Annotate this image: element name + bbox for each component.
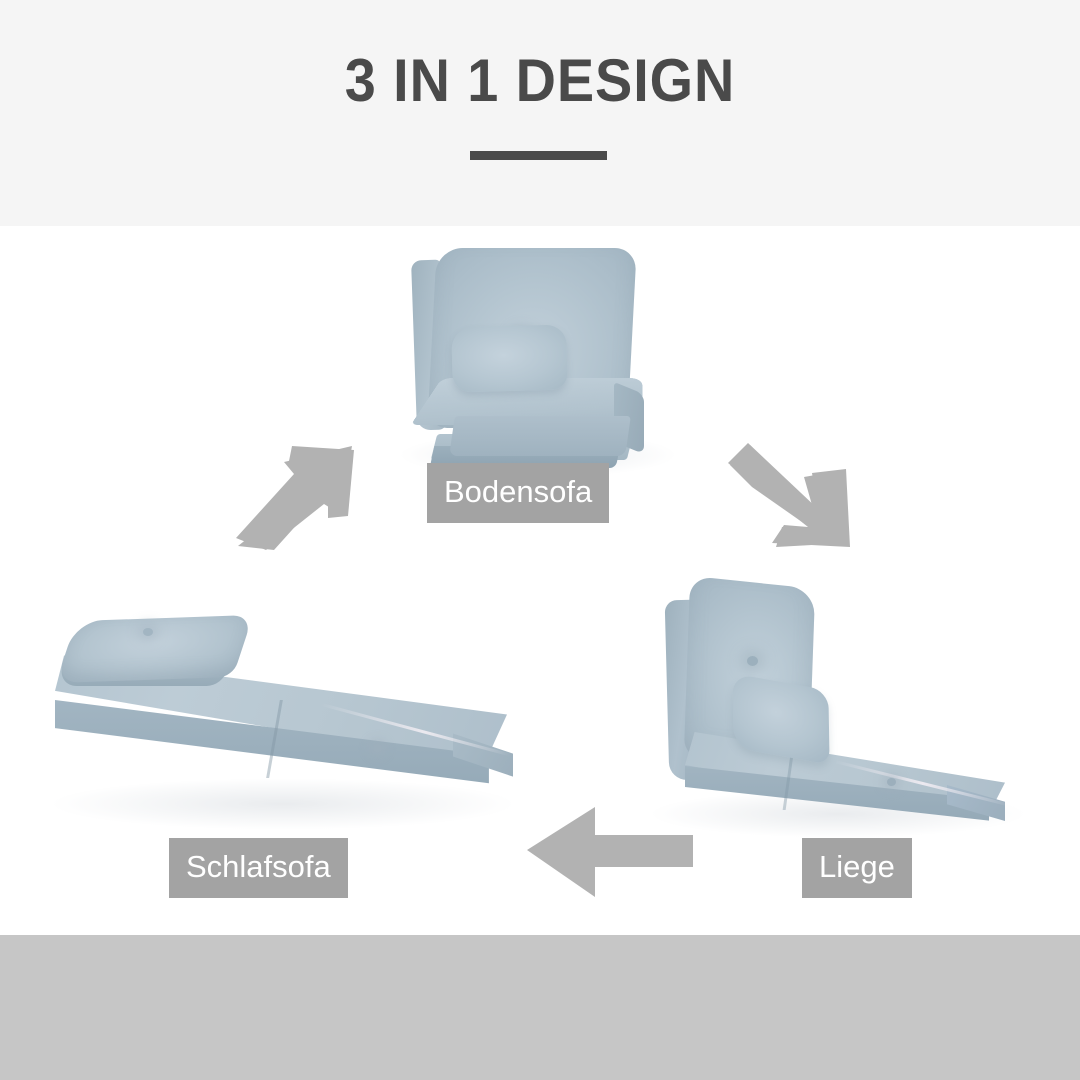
liege-seat-tuft — [887, 778, 896, 786]
product-image-liege — [655, 570, 1005, 830]
header-band: 3 IN 1 DESIGN — [0, 0, 1080, 226]
title-divider — [470, 151, 607, 160]
schlafsofa-pillow-top — [56, 615, 254, 683]
bodensofa-seat-front — [449, 416, 631, 456]
product-infographic: 3 IN 1 DESIGN Bodensofa — [0, 0, 1080, 1080]
page-title: 3 IN 1 DESIGN — [38, 46, 1042, 115]
label-liege: Liege — [802, 838, 912, 898]
bodensofa-lumbar-pillow — [451, 325, 568, 393]
schlafsofa-tuft-button — [373, 744, 382, 752]
footer-band — [0, 935, 1080, 1080]
arrow-bodensofa-to-liege — [726, 443, 854, 555]
liege-tuft-button — [747, 656, 758, 666]
product-image-schlafsofa — [55, 604, 515, 829]
label-schlafsofa: Schlafsofa — [169, 838, 348, 898]
schlafsofa-pillow-tuft — [143, 628, 153, 636]
label-bodensofa: Bodensofa — [427, 463, 609, 523]
product-image-bodensofa — [404, 238, 669, 468]
arrow-schlafsofa-to-bodensofa — [236, 442, 360, 550]
